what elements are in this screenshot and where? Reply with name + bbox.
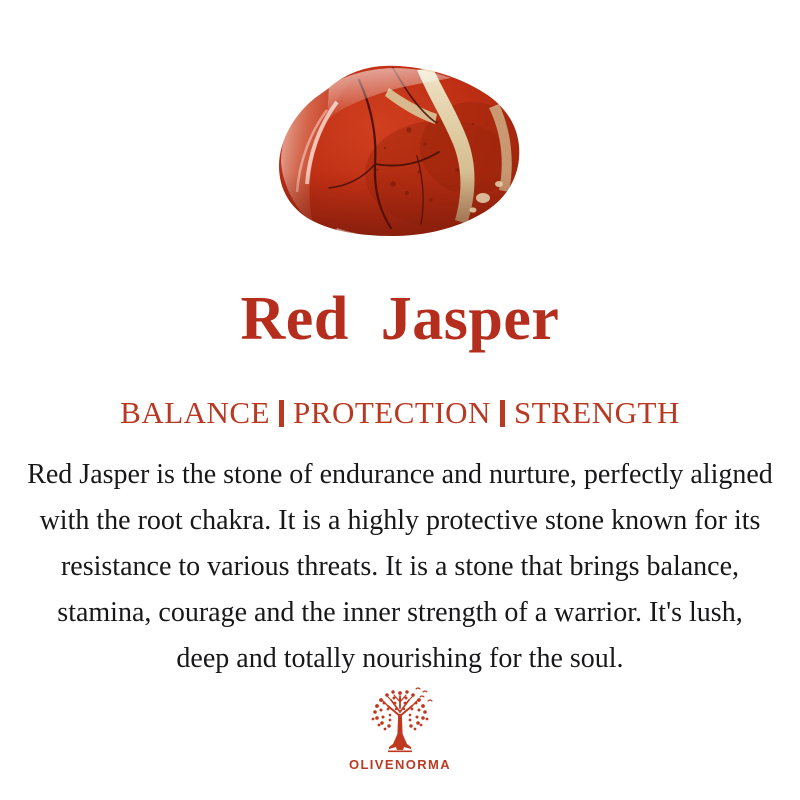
product-description: Red Jasper is the stone of endurance and… [10,452,790,682]
product-image [0,52,800,252]
brand-name: OLIVENORMA [0,757,800,772]
description-line-5: deep and totally nourishing for the soul… [10,636,790,682]
brand-logo: OLIVENORMA [0,684,800,772]
red-jasper-stone-illustration [267,52,533,248]
keyword-separator-2 [500,400,505,427]
description-line-2: with the root chakra. It is a highly pro… [10,498,790,544]
tree-of-life-icon [360,684,440,756]
keyword-separator-1 [279,400,284,427]
description-line-4: stamina, courage and the inner strength … [10,590,790,636]
description-line-3: resistance to various threats. It is a s… [10,544,790,590]
description-line-1: Red Jasper is the stone of endurance and… [10,452,790,498]
keyword-balance: BALANCE [120,395,270,430]
product-info-card: Red Jasper BALANCEPROTECTIONSTRENGTH Red… [0,0,800,800]
keyword-strength: STRENGTH [514,395,680,430]
product-keywords: BALANCEPROTECTIONSTRENGTH [0,396,800,430]
keyword-protection: PROTECTION [293,395,491,430]
product-title: Red Jasper [0,288,800,350]
